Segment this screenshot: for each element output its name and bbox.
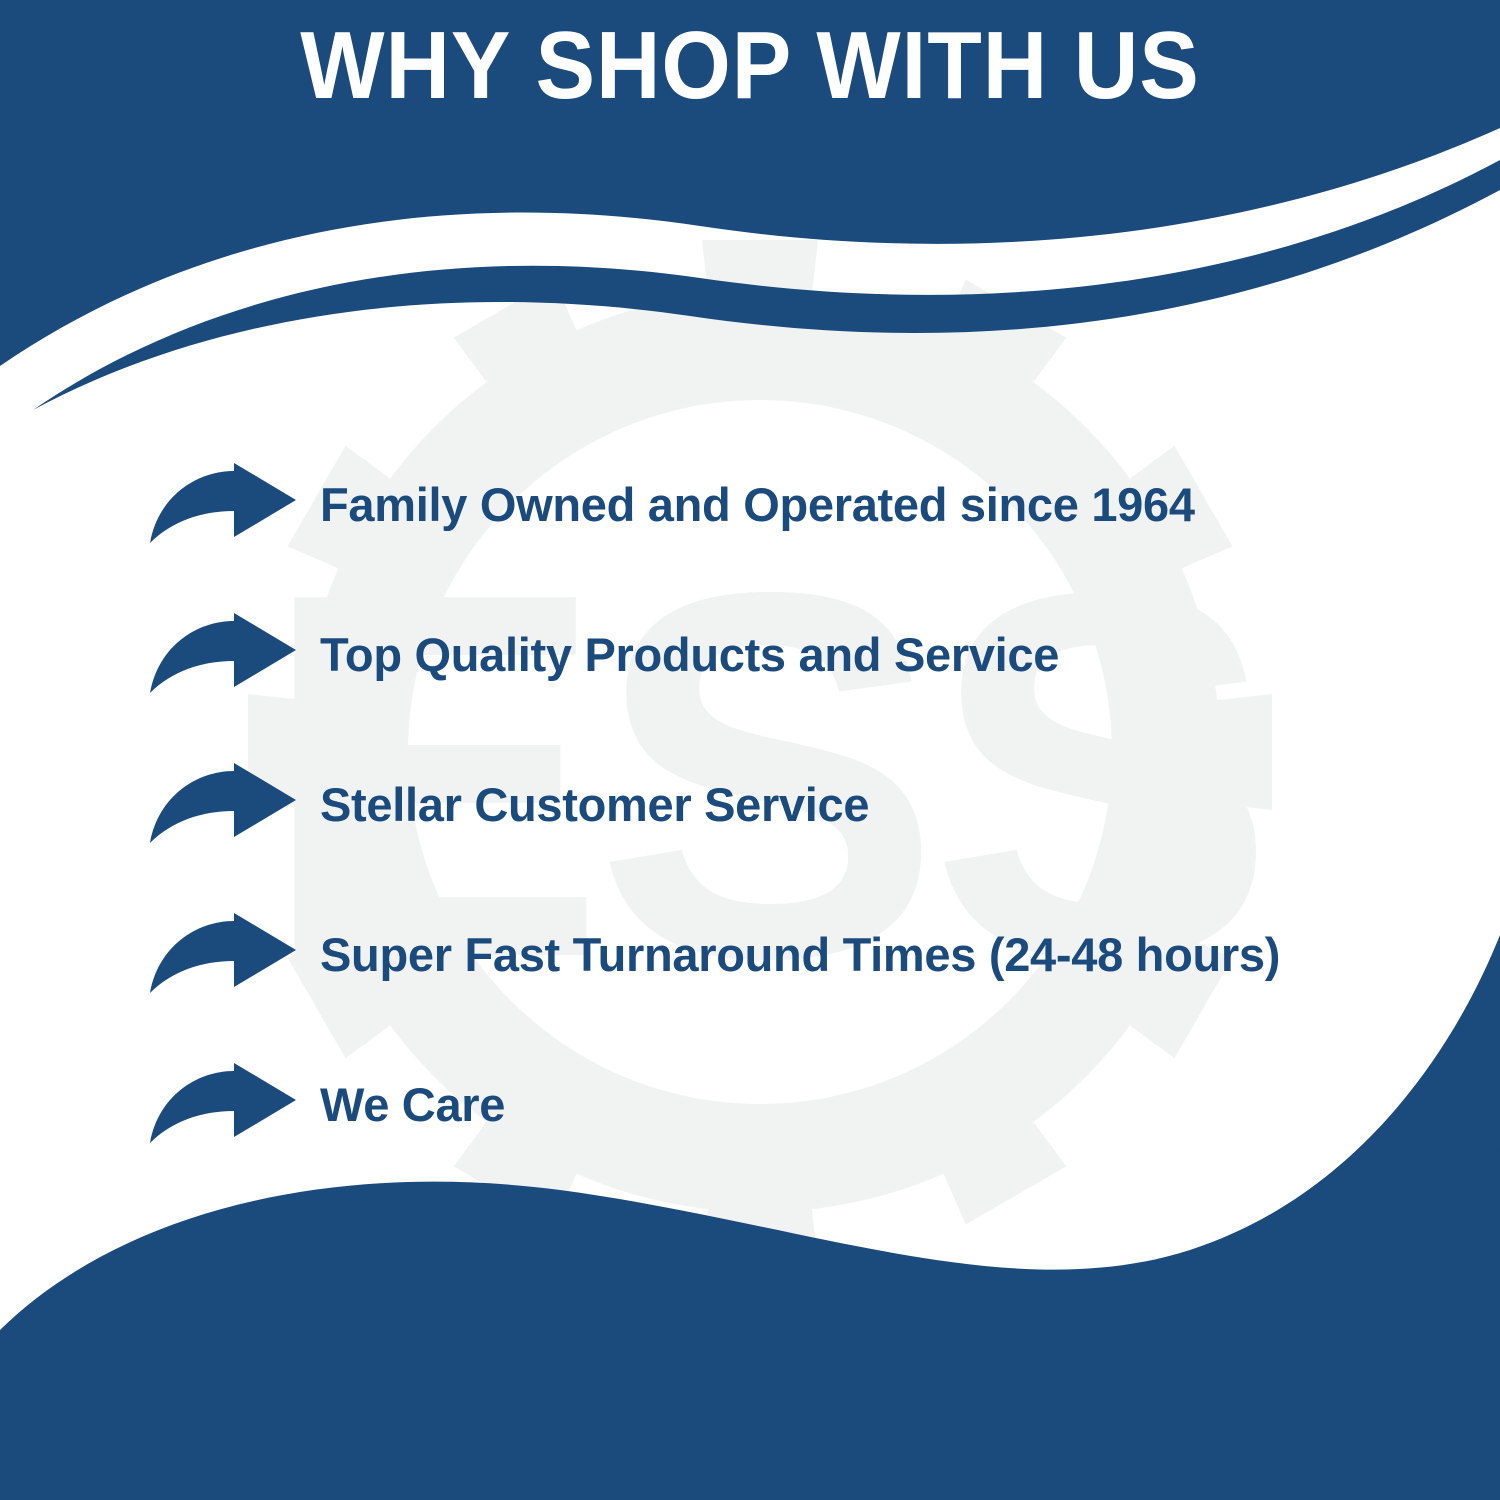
bottom-blue-crescent: [22, 1130, 1500, 1500]
curved-arrow-right-icon: [148, 613, 298, 697]
benefit-item: We Care: [0, 1030, 1500, 1180]
benefit-label: Top Quality Products and Service: [320, 629, 1500, 681]
benefit-label: Stellar Customer Service: [320, 779, 1500, 831]
benefit-item: Stellar Customer Service: [0, 730, 1500, 880]
curved-arrow-right-icon: [148, 763, 298, 847]
page-title: WHY SHOP WITH US: [53, 16, 1448, 117]
benefit-label: Super Fast Turnaround Times (24-48 hours…: [320, 929, 1500, 981]
top-blue-crescent: [33, 160, 1500, 410]
benefit-item: Top Quality Products and Service: [0, 580, 1500, 730]
benefits-list: Family Owned and Operated since 1964 Top…: [0, 430, 1500, 1180]
benefit-label: We Care: [320, 1079, 1500, 1131]
benefit-item: Family Owned and Operated since 1964: [0, 430, 1500, 580]
benefit-label: Family Owned and Operated since 1964: [320, 479, 1500, 531]
why-shop-with-us-poster: ESS WHY SHOP WITH US Family Owned and Op…: [0, 0, 1500, 1500]
curved-arrow-right-icon: [148, 913, 298, 997]
curved-arrow-right-icon: [148, 1063, 298, 1147]
benefit-item: Super Fast Turnaround Times (24-48 hours…: [0, 880, 1500, 1030]
curved-arrow-right-icon: [148, 463, 298, 547]
